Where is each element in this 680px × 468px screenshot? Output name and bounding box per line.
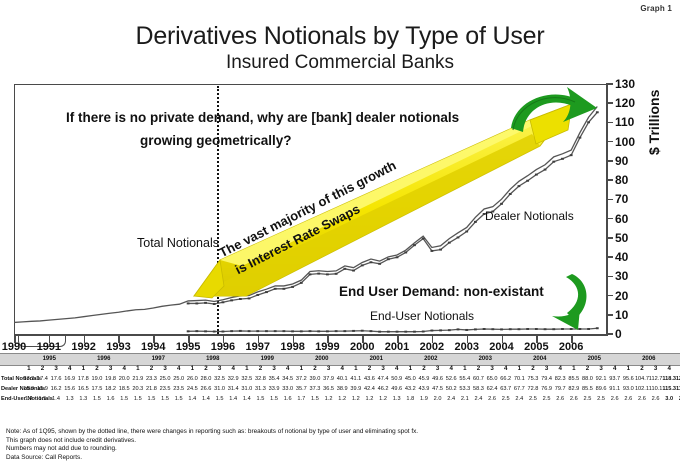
- y-tick-label: 130: [615, 77, 635, 91]
- table-quarter-cell: 2: [95, 365, 98, 372]
- table-quarter-cell: 3: [54, 365, 57, 372]
- table-cell: 104.7: [635, 376, 649, 382]
- table-quarter-cell: 3: [599, 365, 602, 372]
- table-cell: 38.9: [337, 386, 348, 392]
- table-cell: 70.1: [514, 376, 525, 382]
- table-cell: 31.0: [241, 386, 252, 392]
- table-cell: 16.2: [51, 386, 62, 392]
- table-cell: 63.7: [500, 386, 511, 392]
- table-cell: 62.4: [487, 386, 498, 392]
- table-cell: 1.4: [188, 396, 196, 402]
- table-cell: 53.3: [459, 386, 470, 392]
- series-marker: [439, 329, 442, 331]
- table-cell: 112.7: [649, 376, 663, 382]
- table-cell: 76.9: [541, 386, 552, 392]
- table-cell: 66.2: [500, 376, 511, 382]
- series-marker: [187, 330, 190, 332]
- table-cell: 43.2: [405, 386, 416, 392]
- table-cell: 2.6: [638, 396, 646, 402]
- table-cell: 1.5: [148, 396, 156, 402]
- table-cell: 40.1: [337, 376, 348, 382]
- table-cell: 49.6: [432, 376, 443, 382]
- x-tick-label: 1995: [176, 341, 200, 353]
- table-quarter-cell: 2: [586, 365, 589, 372]
- table-cell: 32.5: [214, 376, 225, 382]
- table-cell: 23.3: [146, 376, 157, 382]
- series-marker: [195, 302, 198, 304]
- table-quarter-cell: 3: [381, 365, 384, 372]
- table-cell: 1.6: [284, 396, 292, 402]
- table-quarter-cell: 2: [368, 365, 371, 372]
- total-notionals-label: Total Notionals: [137, 236, 219, 250]
- table-cell: 15.9: [37, 386, 48, 392]
- table-cell: 2.6: [611, 396, 619, 402]
- series-marker: [274, 330, 277, 332]
- table-cell: 2.5: [529, 396, 537, 402]
- table-cell: 1.8: [406, 396, 414, 402]
- series-marker: [291, 330, 294, 332]
- table-cell: 1.2: [338, 396, 346, 402]
- table-cell: 47.5: [432, 386, 443, 392]
- table-cell: 1.3: [66, 396, 74, 402]
- table-cell: 25.0: [173, 376, 184, 382]
- series-marker: [282, 330, 285, 332]
- series-marker: [239, 330, 242, 332]
- x-tick-label: 2000: [350, 341, 374, 353]
- table-cell: 3.0: [665, 396, 673, 402]
- table-cell: 39.9: [350, 386, 361, 392]
- table-cell: 1.2: [379, 396, 387, 402]
- y-tick-label: 110: [615, 115, 634, 129]
- x-tick-label: 2004: [489, 341, 513, 353]
- x-tick-label: 1992: [71, 341, 95, 353]
- green-arrow-upper: [505, 84, 615, 154]
- table-cell: 72.8: [527, 386, 538, 392]
- table-cell: 1.2: [352, 396, 360, 402]
- table-row: Total Notionals17.217.417.616.917.819.01…: [0, 376, 680, 385]
- series-marker: [491, 328, 494, 330]
- footnote-line: Numbers may not add due to rounding.: [6, 445, 606, 454]
- table-year-cell: 2000: [315, 356, 328, 362]
- table-year-cell: 1999: [261, 356, 274, 362]
- table-cell: 17.6: [51, 376, 62, 382]
- table-cell: 32.8: [255, 376, 266, 382]
- dealer-notionals-label: Dealer Notionals: [485, 209, 574, 223]
- table-cell: 1.4: [243, 396, 251, 402]
- table-quarter-cell: 2: [477, 365, 480, 372]
- footnotes: Note: As of 1Q95, shown by the dotted li…: [6, 428, 606, 462]
- table-quarter-cell: 2: [531, 365, 534, 372]
- y-tick-label: 90: [615, 154, 628, 168]
- series-marker: [213, 303, 216, 305]
- series-marker: [195, 330, 198, 332]
- y-tick: [606, 179, 613, 181]
- table-quarter-cell: 1: [518, 365, 521, 372]
- table-cell: 1.2: [325, 396, 333, 402]
- table-cell: 118.3: [662, 376, 676, 382]
- table-quarter-cell: 3: [109, 365, 112, 372]
- series-marker: [187, 302, 190, 304]
- table-year-cell: 2005: [588, 356, 601, 362]
- table-cell: 19.0: [91, 376, 102, 382]
- table-quarter-cell: 2: [313, 365, 316, 372]
- table-quarter-cell: 2: [422, 365, 425, 372]
- table-year-cell: 1995: [43, 356, 56, 362]
- x-tick-label: 1999: [315, 341, 339, 353]
- series-marker: [509, 328, 512, 330]
- table-cell: 17.5: [91, 386, 102, 392]
- table-row-label: Total Notionals: [1, 376, 41, 382]
- table-cell: 2.6: [652, 396, 660, 402]
- page-subtitle: Insured Commercial Banks: [0, 52, 680, 74]
- table-quarter-cell: 2: [259, 365, 262, 372]
- question-line-2: growing geometrically?: [140, 133, 292, 148]
- table-quarter-cell: 2: [150, 365, 153, 372]
- table-cell: 33.0: [282, 386, 293, 392]
- table-year-cell: 2002: [424, 356, 437, 362]
- table-cell: 85.5: [582, 386, 593, 392]
- table-quarter-cell: 1: [191, 365, 194, 372]
- table-quarter-cell: 1: [136, 365, 139, 372]
- table-cell: 102.1: [635, 386, 649, 392]
- y-tick-label: 30: [615, 269, 628, 283]
- x-tick-label: 1997: [246, 341, 270, 353]
- table-quarter-cell: 4: [122, 365, 125, 372]
- y-tick: [606, 256, 613, 258]
- table-cell: 26.6: [200, 386, 211, 392]
- table-cell: 50.9: [391, 376, 402, 382]
- series-marker: [422, 331, 425, 333]
- series-marker: [526, 328, 529, 330]
- table-cell: 21.8: [146, 386, 157, 392]
- table-cell: 43.9: [418, 386, 429, 392]
- x-tick-label: 2002: [420, 341, 444, 353]
- table-quarter-cell: 3: [436, 365, 439, 372]
- table-cell: 34.5: [282, 376, 293, 382]
- table-cell: 2.6: [488, 396, 496, 402]
- y-tick-label: 10: [615, 308, 628, 322]
- series-marker: [204, 302, 207, 304]
- table-cell: 2.5: [597, 396, 605, 402]
- table-cell: 2.0: [434, 396, 442, 402]
- table-cell: 43.6: [364, 376, 375, 382]
- table-cell: 35.7: [296, 386, 307, 392]
- table-year-cell: 2004: [533, 356, 546, 362]
- series-marker: [483, 328, 486, 330]
- table-cell: 42.4: [364, 386, 375, 392]
- table-cell: 41.1: [350, 376, 361, 382]
- table-year-cell: 1998: [206, 356, 219, 362]
- x-tick-label: 1998: [280, 341, 304, 353]
- table-cell: 67.7: [514, 386, 525, 392]
- table-year-cell: 2003: [479, 356, 492, 362]
- table-cell: 2.6: [556, 396, 564, 402]
- table-cell: 45.9: [418, 376, 429, 382]
- y-tick: [606, 218, 613, 220]
- table-cell: 1.3: [393, 396, 401, 402]
- table-cell: 2.6: [570, 396, 578, 402]
- footnote-line: Data Source: Call Reports.: [6, 454, 606, 463]
- table-cell: 15.9: [23, 386, 34, 392]
- series-marker: [535, 328, 538, 330]
- table-cell: 93.7: [609, 376, 620, 382]
- table-cell: 1.5: [93, 396, 101, 402]
- series-marker: [309, 330, 312, 332]
- table-cell: 1.4: [25, 396, 33, 402]
- table-quarter-cell: 4: [449, 365, 452, 372]
- x-tick-label: 1996: [211, 341, 235, 353]
- table-cell: 92.1: [596, 376, 607, 382]
- table-cell: 95.6: [623, 376, 634, 382]
- table-cell: 20.0: [119, 376, 130, 382]
- table-cell: 31.4: [228, 386, 239, 392]
- table-cell: 2.1: [461, 396, 469, 402]
- series-marker: [404, 331, 407, 333]
- table-quarter-cell: 1: [627, 365, 630, 372]
- series-marker: [465, 329, 468, 331]
- table-quarter-cell: 3: [654, 365, 657, 372]
- x-tick-label: 2001: [385, 341, 409, 353]
- table-cell: 55.4: [459, 376, 470, 382]
- table-cell: 1.6: [107, 396, 115, 402]
- y-tick-label: 40: [615, 250, 628, 264]
- table-quarter-cell: 4: [340, 365, 343, 372]
- table-year-cell: 2006: [642, 356, 655, 362]
- table-cell: 2.4: [475, 396, 483, 402]
- table-cell: 60.7: [473, 376, 484, 382]
- series-marker: [370, 330, 373, 332]
- table-cell: 32.9: [228, 376, 239, 382]
- series-marker: [256, 330, 259, 332]
- table-cell: 65.0: [487, 376, 498, 382]
- series-marker: [457, 328, 460, 330]
- table-cell: 52.6: [446, 376, 457, 382]
- table-cell: 33.9: [269, 386, 280, 392]
- table-cell: 1.4: [229, 396, 237, 402]
- table-cell: 21.9: [132, 376, 143, 382]
- table-quarter-cell: 1: [463, 365, 466, 372]
- y-tick-label: 80: [615, 173, 628, 187]
- series-marker: [222, 301, 225, 303]
- table-quarter-cell: 3: [545, 365, 548, 372]
- table-quarter-cell: 2: [640, 365, 643, 372]
- series-marker: [500, 328, 503, 330]
- table-cell: 88.0: [582, 376, 593, 382]
- x-tick-label: 2003: [454, 341, 478, 353]
- table-row: End-User Notionals1.41.51.41.31.31.51.61…: [0, 396, 680, 405]
- y-tick-label: 120: [615, 96, 635, 110]
- table-cell: 1.5: [216, 396, 224, 402]
- y-tick: [606, 237, 613, 239]
- series-marker: [204, 330, 207, 332]
- table-quarter-cell: 4: [68, 365, 71, 372]
- table-quarter-cell: 1: [245, 365, 248, 372]
- y-tick-label: 20: [615, 289, 628, 303]
- series-marker: [222, 331, 225, 333]
- footnote-line: Note: As of 1Q95, shown by the dotted li…: [6, 428, 606, 437]
- end-user-notionals-label: End-User Notionals: [370, 309, 474, 323]
- table-cell: 24.5: [187, 386, 198, 392]
- table-cell: 23.5: [160, 386, 171, 392]
- table-cell: 1.5: [134, 396, 142, 402]
- table-cell: 1.5: [175, 396, 183, 402]
- table-cell: 1.4: [202, 396, 210, 402]
- table-cell: 2.5: [584, 396, 592, 402]
- question-line-1: If there is no private demand, why are […: [66, 110, 459, 125]
- table-quarter-header: 1234123412341234123412341234123412341234…: [0, 365, 680, 374]
- table-quarter-cell: 3: [218, 365, 221, 372]
- series-marker: [248, 330, 251, 332]
- series-marker: [474, 328, 477, 330]
- series-marker: [326, 330, 329, 332]
- table-year-cell: 2001: [370, 356, 383, 362]
- table-quarter-cell: 2: [41, 365, 44, 372]
- x-tick-label: 2005: [524, 341, 548, 353]
- table-quarter-cell: 4: [286, 365, 289, 372]
- table-cell: 16.5: [78, 386, 89, 392]
- table-quarter-cell: 1: [300, 365, 303, 372]
- x-tick-label: 1991: [37, 341, 61, 353]
- table-cell: 1.5: [39, 396, 47, 402]
- y-tick-label: 0: [615, 327, 622, 341]
- series-marker: [230, 330, 233, 332]
- table-cell: 31.3: [255, 386, 266, 392]
- table-cell: 47.4: [378, 376, 389, 382]
- table-cell: 39.0: [309, 376, 320, 382]
- table-cell: 1.5: [257, 396, 265, 402]
- table-cell: 17.8: [78, 376, 89, 382]
- table-cell: 115.3: [662, 386, 676, 392]
- table-cell: 37.3: [309, 386, 320, 392]
- table-cell: 58.3: [473, 386, 484, 392]
- table-cell: 28.0: [200, 376, 211, 382]
- green-arrow-lower: [540, 272, 610, 334]
- page-title: Derivatives Notionals by Type of User: [0, 22, 680, 51]
- table-cell: 2.5: [502, 396, 510, 402]
- table-quarter-cell: 4: [667, 365, 670, 372]
- table-cell: 37.9: [323, 376, 334, 382]
- table-cell: 82.3: [555, 376, 566, 382]
- table-cell: 19.8: [105, 376, 116, 382]
- table-cell: 45.0: [405, 376, 416, 382]
- table-quarter-cell: 1: [354, 365, 357, 372]
- table-quarter-cell: 4: [177, 365, 180, 372]
- table-row: Dealer Notionals15.915.916.215.616.517.5…: [0, 386, 680, 395]
- table-quarter-cell: 3: [490, 365, 493, 372]
- table-cell: 79.7: [555, 386, 566, 392]
- x-tick-label: 1994: [141, 341, 165, 353]
- series-marker: [387, 331, 390, 333]
- y-tick-label: 70: [615, 192, 628, 206]
- table-cell: 1.5: [120, 396, 128, 402]
- table-cell: 1.3: [79, 396, 87, 402]
- table-quarter-cell: 1: [82, 365, 85, 372]
- table-year-cell: 1997: [152, 356, 165, 362]
- table-cell: 2.4: [447, 396, 455, 402]
- data-table: 1995199619971998199920002001200220032004…: [0, 353, 680, 415]
- table-cell: 17.4: [37, 376, 48, 382]
- table-quarter-cell: 2: [204, 365, 207, 372]
- table-cell: 46.2: [378, 386, 389, 392]
- table-cell: 23.5: [173, 386, 184, 392]
- table-cell: 119.6: [676, 386, 680, 392]
- table-cell: 85.5: [568, 376, 579, 382]
- table-cell: 2.6: [624, 396, 632, 402]
- table-quarter-cell: 3: [327, 365, 330, 372]
- series-marker: [378, 331, 381, 333]
- table-cell: 93.0: [623, 386, 634, 392]
- table-cell: 50.2: [446, 386, 457, 392]
- series-marker: [352, 330, 355, 332]
- series-marker: [448, 329, 451, 331]
- table-cell: 15.6: [64, 386, 75, 392]
- table-cell: 91.1: [609, 386, 620, 392]
- table-cell: 31.0: [214, 386, 225, 392]
- y-tick-label: 60: [615, 212, 628, 226]
- table-cell: 82.9: [568, 386, 579, 392]
- table-quarter-cell: 1: [27, 365, 30, 372]
- series-marker: [361, 330, 364, 332]
- series-marker: [300, 330, 303, 332]
- series-marker: [343, 330, 346, 332]
- graph-number-label: Graph 1: [640, 4, 672, 13]
- x-tick-label: 2006: [559, 341, 583, 353]
- series-marker: [265, 330, 268, 332]
- table-cell: 49.6: [391, 386, 402, 392]
- table-cell: 1.5: [311, 396, 319, 402]
- table-quarter-cell: 1: [409, 365, 412, 372]
- table-quarter-cell: 4: [395, 365, 398, 372]
- table-cell: 16.9: [64, 376, 75, 382]
- footnote-line: This graph does not include credit deriv…: [6, 437, 606, 446]
- y-tick: [606, 199, 613, 201]
- table-cell: 1.5: [270, 396, 278, 402]
- table-quarter-cell: 4: [504, 365, 507, 372]
- y-tick: [606, 160, 613, 162]
- table-cell: 1.9: [420, 396, 428, 402]
- table-cell: 1.5: [161, 396, 169, 402]
- table-cell: 1.7: [297, 396, 305, 402]
- table-cell: 17.2: [23, 376, 34, 382]
- table-quarter-cell: 3: [272, 365, 275, 372]
- end-user-demand-label: End User Demand: non-existant: [339, 284, 544, 299]
- table-year-cell: 1996: [97, 356, 110, 362]
- table-cell: 26.0: [187, 376, 198, 382]
- table-cell: 37.2: [296, 376, 307, 382]
- table-cell: 20.3: [132, 386, 143, 392]
- series-marker: [213, 331, 216, 333]
- table-cell: 75.3: [527, 376, 538, 382]
- series-marker: [317, 330, 320, 332]
- series-marker: [413, 331, 416, 333]
- table-cell: 89.6: [596, 386, 607, 392]
- x-tick-label: 1993: [106, 341, 130, 353]
- table-cell: 36.5: [323, 386, 334, 392]
- table-cell: 2.5: [543, 396, 551, 402]
- y-axis-title: $ Trillions: [646, 90, 662, 155]
- series-marker: [335, 330, 338, 332]
- table-cell: 1.2: [366, 396, 374, 402]
- table-cell: 25.0: [160, 376, 171, 382]
- table-cell: 18.5: [119, 386, 130, 392]
- y-tick-label: 50: [615, 231, 628, 245]
- table-cell: 110.1: [649, 386, 663, 392]
- x-tick-label: 1990: [2, 341, 26, 353]
- table-quarter-cell: 4: [558, 365, 561, 372]
- y-tick-label: 100: [615, 135, 635, 149]
- table-cell: 79.4: [541, 376, 552, 382]
- table-quarter-cell: 1: [572, 365, 575, 372]
